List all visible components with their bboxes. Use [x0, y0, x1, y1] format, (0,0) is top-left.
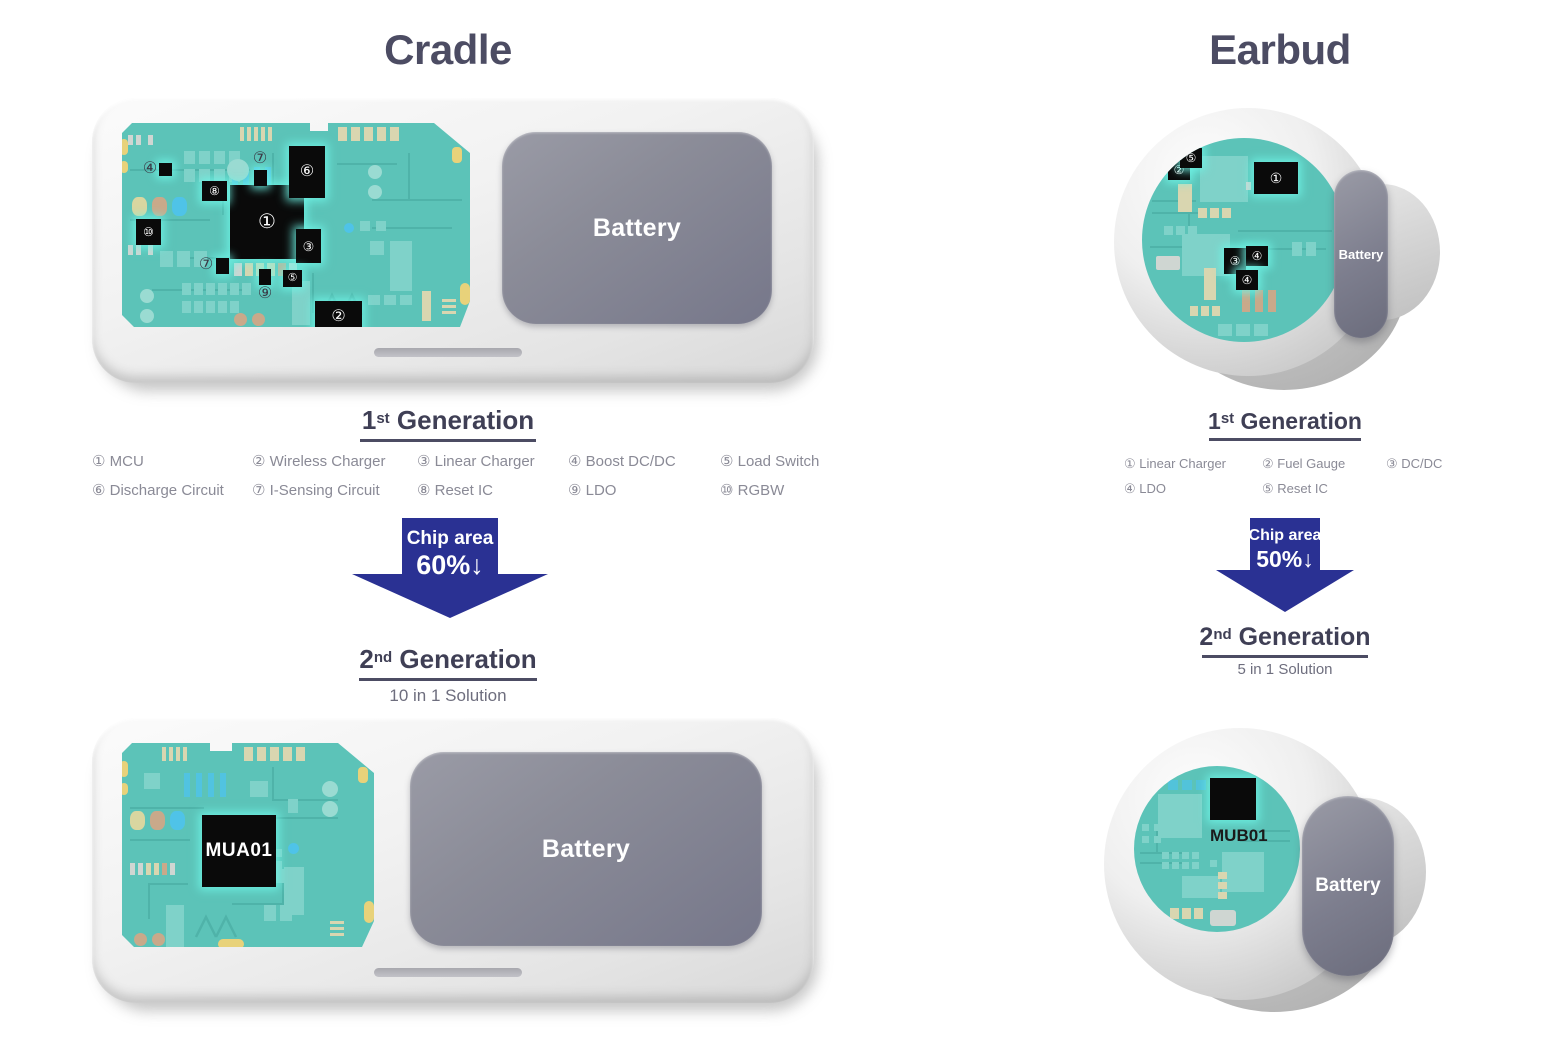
- pcb-component: [322, 801, 338, 817]
- pcb-pad: [1222, 208, 1231, 218]
- pcb-component: [288, 799, 298, 813]
- pcb-trace: [312, 273, 314, 313]
- pcb-pad: [1192, 852, 1199, 859]
- pcb-pad: [264, 905, 276, 921]
- pcb-pad: [1246, 182, 1251, 190]
- legend-item-3: ③ Linear Charger: [417, 452, 535, 470]
- earbud-chip-5[interactable]: ⑤: [1180, 148, 1202, 168]
- chip-marker-8: ⑧: [202, 181, 227, 201]
- pcb-pad: [194, 283, 203, 295]
- legend-item-4: ④ LDO: [1124, 481, 1166, 497]
- pcb-pad: [1188, 226, 1197, 235]
- pcb-pad: [170, 863, 175, 875]
- pcb-pad: [162, 863, 167, 875]
- pcb-component: [390, 241, 412, 291]
- pcb-pad: [1178, 184, 1192, 212]
- cradle-chip-3[interactable]: ③: [296, 229, 321, 263]
- pcb-pad: [351, 127, 360, 141]
- pcb-trace: [130, 807, 204, 809]
- pcb-pad: [376, 221, 386, 231]
- pcb-pad: [1142, 836, 1149, 843]
- heading-underline: [1202, 655, 1368, 658]
- pcb-pad: [368, 295, 380, 305]
- earbud-chip-4a[interactable]: ④: [1246, 246, 1268, 266]
- pcb-component: [370, 241, 384, 255]
- cradle-gen2-chip-mua01[interactable]: MUA01: [202, 815, 276, 887]
- pcb-pad: [1172, 852, 1179, 859]
- pcb-pad: [1204, 268, 1216, 300]
- pcb-pad: [360, 221, 370, 231]
- pcb-pad: [1218, 872, 1227, 879]
- earbud-gen2-device: MUB01 Battery: [1090, 722, 1440, 1012]
- pcb-component: [1158, 794, 1202, 838]
- cradle-chip-10[interactable]: ⑩: [136, 219, 161, 245]
- earbud-gen1-device: ① ② ③ ④ ④ ⑤ Battery: [1098, 100, 1448, 390]
- pcb-component: [150, 811, 165, 830]
- legend-item-1: ① MCU: [92, 452, 144, 470]
- pcb-gold-pad: [452, 147, 462, 163]
- pcb-pad: [128, 245, 133, 255]
- pcb-pad: [162, 747, 166, 761]
- chip-marker-4b: ④: [1236, 270, 1258, 290]
- pcb-pad: [199, 151, 210, 164]
- pcb-pad: [242, 283, 251, 295]
- pcb-pad: [1162, 862, 1169, 869]
- pcb-component: [252, 313, 265, 326]
- chip-marker-5: ⑤: [1180, 148, 1202, 168]
- earbud-gen2-subtitle: 5 in 1 Solution: [1140, 661, 1430, 678]
- pcb-pad: [148, 135, 153, 145]
- earbud-gen2-pcb: [1134, 766, 1300, 932]
- cradle-title-text: Cradle: [384, 26, 512, 73]
- battery-label: Battery: [1315, 875, 1380, 897]
- heading-underline: [360, 439, 536, 442]
- earbud-legend: ① Linear Charger ② Fuel Gauge ③ DC/DC ④ …: [1124, 456, 1454, 506]
- pcb-pad: [283, 747, 292, 761]
- cradle-gen1-heading-text: 1st Generation: [288, 405, 608, 436]
- legend-item-2: ② Wireless Charger: [252, 452, 386, 470]
- pcb-component: [322, 781, 338, 797]
- chip-marker-1: ①: [1254, 162, 1298, 194]
- pcb-pad: [254, 127, 258, 141]
- heading-underline: [1209, 438, 1361, 441]
- pcb-pad: [182, 301, 191, 313]
- pcb-pad: [1142, 824, 1149, 831]
- cradle-gen2-pcb: MUA01: [122, 743, 374, 947]
- pcb-trace: [272, 767, 274, 801]
- pcb-pad: [1210, 910, 1236, 926]
- pcb-pad: [184, 151, 195, 164]
- legend-item-5: ⑤ Reset IC: [1262, 481, 1328, 497]
- legend-item-5: ⑤ Load Switch: [720, 452, 819, 470]
- pcb-pad: [442, 311, 456, 314]
- legend-row: ⑥ Discharge Circuit ⑦ I-Sensing Circuit …: [92, 481, 822, 510]
- pcb-component: [172, 197, 187, 216]
- pcb-antenna-icon: [192, 907, 242, 941]
- pcb-pad: [400, 295, 412, 305]
- arrow-shape-icon: [352, 518, 548, 618]
- pcb-component: [140, 289, 154, 303]
- legend-item-3: ③ DC/DC: [1386, 456, 1442, 472]
- pcb-trace: [232, 903, 284, 905]
- earbud-gen1-heading: 1st Generation: [1140, 408, 1430, 441]
- pcb-component: [132, 197, 147, 216]
- legend-item-10: ⑩ RGBW: [720, 481, 784, 499]
- pcb-pad: [338, 127, 347, 141]
- pcb-pad: [442, 305, 456, 308]
- pcb-trace: [1238, 230, 1332, 232]
- pcb-pad: [136, 245, 141, 255]
- chip-marker-6: ⑥: [289, 146, 325, 198]
- earbud-gen1-heading-text: 1st Generation: [1140, 408, 1430, 435]
- battery-label: Battery: [542, 835, 630, 864]
- pcb-pad: [182, 283, 191, 295]
- chip-marker-10: ⑩: [136, 219, 161, 245]
- pcb-component: [368, 185, 382, 199]
- legend-row: ① Linear Charger ② Fuel Gauge ③ DC/DC: [1124, 456, 1454, 481]
- pcb-component: [288, 843, 299, 854]
- pcb-pad: [364, 127, 373, 141]
- pcb-pad: [206, 301, 215, 313]
- cradle-chip-9[interactable]: [259, 269, 271, 285]
- pcb-pad: [1190, 306, 1198, 316]
- pcb-pad: [240, 127, 244, 141]
- pcb-trace: [337, 163, 397, 165]
- pcb-pad: [1162, 852, 1169, 859]
- cradle-gen2-battery: Battery: [410, 752, 762, 946]
- pcb-pad: [206, 283, 215, 295]
- pcb-pad: [1182, 862, 1189, 869]
- pcb-trace: [148, 883, 188, 885]
- pcb-pad: [1236, 324, 1250, 336]
- pcb-trace: [1152, 212, 1204, 214]
- cradle-gen2-device: MUA01 Battery: [92, 718, 814, 1003]
- chip-marker-9: ⑨: [257, 286, 273, 302]
- pcb-pad: [1292, 242, 1302, 256]
- cradle-chip-7b[interactable]: [216, 258, 229, 274]
- chip-marker-4a: ④: [1246, 246, 1268, 266]
- earbud-gen1-pcb: ① ② ③ ④ ④ ⑤: [1142, 138, 1346, 342]
- pcb-pad: [1182, 852, 1189, 859]
- diagram-canvas: Cradle: [0, 0, 1541, 1051]
- pcb-pad: [1182, 908, 1191, 919]
- pcb-pad: [1154, 836, 1161, 843]
- pcb-component: [227, 159, 249, 181]
- pcb-pad: [177, 251, 190, 267]
- pcb-component: [1182, 876, 1220, 898]
- legend-item-6: ⑥ Discharge Circuit: [92, 481, 224, 499]
- pcb-pad: [183, 747, 187, 761]
- pcb-pad: [234, 263, 242, 276]
- legend-item-4: ④ Boost DC/DC: [568, 452, 676, 470]
- heading-underline: [359, 678, 537, 681]
- pcb-pad: [1218, 324, 1232, 336]
- earbud-gen2-battery: Battery: [1302, 796, 1394, 976]
- pcb-pad: [1176, 226, 1185, 235]
- pcb-trace: [408, 153, 410, 199]
- pcb-trace: [130, 839, 190, 841]
- cradle-chip-6[interactable]: ⑥: [289, 146, 325, 198]
- pcb-pad: [1254, 324, 1268, 336]
- legend-item-2: ② Fuel Gauge: [1262, 456, 1345, 472]
- earbud-gen1-battery: Battery: [1334, 170, 1388, 338]
- pcb-pad: [1255, 290, 1263, 312]
- pcb-pad: [330, 921, 344, 924]
- pcb-component: [152, 933, 165, 946]
- earbud-gen2-chip-mub01[interactable]: [1210, 778, 1256, 820]
- earbud-chip-1[interactable]: ①: [1254, 162, 1298, 194]
- pcb-component: [1222, 852, 1264, 892]
- pcb-pad: [138, 863, 143, 875]
- pcb-pad: [196, 773, 202, 797]
- pcb-pad: [1192, 862, 1199, 869]
- pcb-gold-pad: [460, 283, 470, 305]
- pcb-pad: [1210, 860, 1217, 867]
- pcb-pad: [1154, 824, 1161, 831]
- pcb-component: [152, 197, 167, 216]
- cradle-gen1-lip: [374, 348, 522, 357]
- cradle-gen2-lip: [374, 968, 522, 977]
- pcb-pad: [1194, 908, 1203, 919]
- pcb-pad: [218, 283, 227, 295]
- cradle-title: Cradle: [248, 26, 648, 74]
- legend-row: ① MCU ② Wireless Charger ③ Linear Charge…: [92, 452, 822, 481]
- pcb-component: [1200, 156, 1248, 202]
- pcb-pad: [330, 933, 344, 936]
- pcb-pad: [144, 773, 160, 789]
- cradle-gen1-pcb: ① ② ③ ④ ⑤ ⑥ ⑦ ⑦ ⑧ ⑨: [122, 123, 470, 327]
- pcb-pad: [384, 295, 396, 305]
- pcb-component: [292, 281, 310, 325]
- pcb-trace: [148, 883, 150, 919]
- pcb-pad: [1198, 208, 1207, 218]
- pcb-component: [170, 811, 185, 830]
- pcb-trace: [372, 199, 462, 201]
- earbud-chip-4b[interactable]: ④: [1236, 270, 1258, 290]
- cradle-gen1-heading: 1st Generation: [288, 405, 608, 442]
- pcb-pad: [270, 747, 279, 761]
- pcb-pad: [1168, 780, 1178, 790]
- pcb-pad: [160, 251, 173, 267]
- pcb-pad: [1164, 226, 1173, 235]
- pcb-pad: [280, 905, 292, 921]
- pcb-pad: [184, 169, 195, 182]
- pcb-component: [140, 309, 154, 323]
- cradle-legend: ① MCU ② Wireless Charger ③ Linear Charge…: [92, 452, 822, 510]
- pcb-pad: [377, 127, 386, 141]
- pcb-pad: [244, 747, 253, 761]
- pcb-pad: [1182, 780, 1192, 790]
- pcb-pad: [247, 127, 251, 141]
- pcb-pad: [146, 863, 151, 875]
- earbud-title-text: Earbud: [1209, 26, 1351, 73]
- pcb-pad: [1196, 780, 1206, 790]
- cradle-chip-7a[interactable]: [254, 170, 267, 186]
- pcb-pad: [1201, 306, 1209, 316]
- chip-marker-3: ③: [296, 229, 321, 263]
- pcb-pad: [148, 245, 153, 255]
- cradle-chip-8[interactable]: ⑧: [202, 181, 227, 201]
- pcb-pad: [261, 127, 265, 141]
- cradle-chip-4[interactable]: [159, 163, 172, 176]
- cradle-gen2-chip-label: MUA01: [206, 840, 273, 862]
- pcb-component: [234, 313, 247, 326]
- legend-item-7: ⑦ I-Sensing Circuit: [252, 481, 380, 499]
- chip-marker-5: ⑤: [283, 270, 302, 287]
- pcb-pad: [220, 773, 226, 797]
- pcb-pad: [1170, 908, 1179, 919]
- chip-marker-7b: ⑦: [198, 257, 214, 273]
- pcb-pad: [296, 747, 305, 761]
- pcb-pad: [218, 301, 227, 313]
- pcb-pad: [230, 301, 239, 313]
- pcb-pad: [1218, 882, 1227, 889]
- earbud-gen2-heading: 2nd Generation: [1140, 623, 1430, 658]
- pcb-pad: [136, 135, 141, 145]
- pcb-pad: [184, 773, 190, 797]
- pcb-pad: [194, 301, 203, 313]
- pcb-pad: [257, 747, 266, 761]
- pcb-pad: [130, 863, 135, 875]
- pcb-pad: [154, 863, 159, 875]
- arrow-shape-icon: [1216, 518, 1354, 612]
- pcb-pad: [268, 127, 272, 141]
- battery-label: Battery: [1339, 247, 1384, 262]
- pcb-pad: [1222, 860, 1229, 867]
- pcb-pad: [422, 291, 431, 321]
- pcb-pad: [176, 747, 180, 761]
- pcb-component: [130, 811, 145, 830]
- pcb-pad: [230, 283, 239, 295]
- legend-item-8: ⑧ Reset IC: [417, 481, 493, 499]
- pcb-pad: [128, 135, 133, 145]
- pcb-pad: [1268, 290, 1276, 312]
- pcb-pad: [169, 747, 173, 761]
- pcb-pad: [208, 773, 214, 797]
- pcb-pad: [390, 127, 399, 141]
- cradle-gen1-device: ① ② ③ ④ ⑤ ⑥ ⑦ ⑦ ⑧ ⑨: [92, 98, 814, 383]
- legend-item-1: ① Linear Charger: [1124, 456, 1226, 472]
- chip-marker-7a: ⑦: [252, 151, 268, 167]
- chip-marker-4: ④: [142, 161, 158, 177]
- pcb-gold-pad: [364, 901, 374, 923]
- cradle-chip-5[interactable]: ⑤: [283, 270, 302, 287]
- cradle-gen2-heading: 2nd Generation: [288, 644, 608, 681]
- cradle-gen2-heading-text: 2nd Generation: [288, 644, 608, 675]
- pcb-component: [166, 905, 184, 947]
- earbud-gen2-chip-label: MUB01: [1210, 826, 1268, 846]
- pcb-pad: [1172, 862, 1179, 869]
- cradle-gen1-battery: Battery: [502, 132, 772, 324]
- cradle-gen2-subtitle: 10 in 1 Solution: [288, 686, 608, 706]
- pcb-component: [368, 165, 382, 179]
- pcb-pad: [1242, 290, 1250, 312]
- pcb-pad: [1156, 256, 1180, 270]
- legend-row: ④ LDO ⑤ Reset IC: [1124, 481, 1454, 506]
- battery-label: Battery: [593, 214, 681, 243]
- pcb-component: [344, 223, 354, 233]
- earbud-title: Earbud: [1080, 26, 1480, 74]
- pcb-component: [134, 933, 147, 946]
- pcb-pad: [1212, 306, 1220, 316]
- pcb-pad: [245, 263, 253, 276]
- pcb-pad: [442, 299, 456, 302]
- cradle-chip-area-arrow: Chip area 60%↓: [352, 518, 548, 618]
- pcb-component: [250, 781, 268, 797]
- earbud-chip-area-arrow: Chip area 50%↓: [1216, 518, 1354, 612]
- pcb-pad: [1306, 242, 1316, 256]
- pcb-pad: [330, 927, 344, 930]
- pcb-pad: [214, 151, 225, 164]
- legend-item-9: ⑨ LDO: [568, 481, 616, 499]
- pcb-pad: [1210, 208, 1219, 218]
- pcb-gold-pad: [358, 767, 368, 783]
- earbud-gen2-heading-text: 2nd Generation: [1140, 623, 1430, 652]
- pcb-pad: [1218, 892, 1227, 899]
